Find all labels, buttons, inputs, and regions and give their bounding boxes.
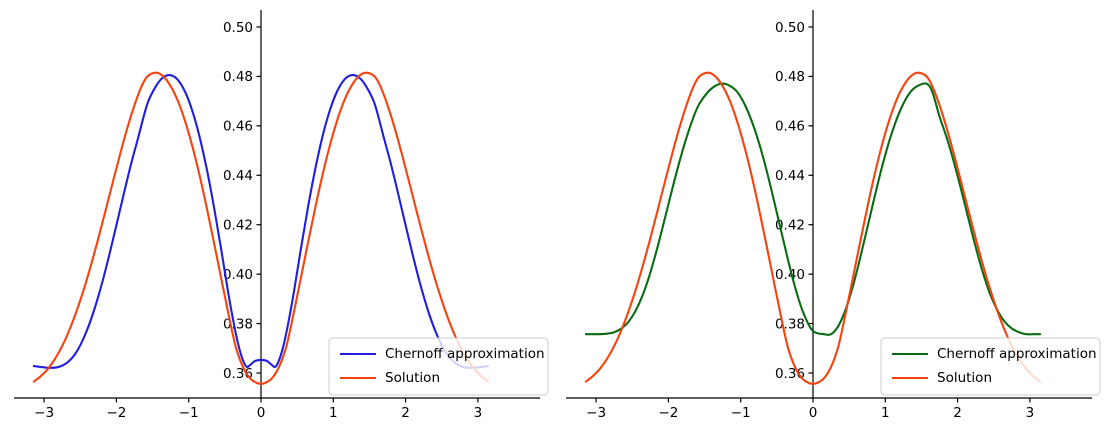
y-tick-label-left-2: 0.40 <box>223 267 253 283</box>
x-tick-label-right-3: 0 <box>809 405 818 421</box>
x-tick-label-right-2: −1 <box>731 405 751 421</box>
x-tick-label-right-0: −3 <box>586 405 606 421</box>
y-tick-label-left-6: 0.48 <box>223 69 253 85</box>
x-tick-label-right-5: 2 <box>953 405 962 421</box>
legend-label-left-0: Chernoff approximation <box>385 346 545 362</box>
x-tick-label-right-4: 1 <box>881 405 890 421</box>
legend-label-left-1: Solution <box>385 370 440 386</box>
x-tick-label-right-1: −2 <box>658 405 678 421</box>
chart-panel-right: −3−2−101230.360.380.400.420.440.460.480.… <box>552 0 1104 433</box>
x-tick-label-left-2: −1 <box>179 405 199 421</box>
y-tick-label-left-1: 0.38 <box>223 316 253 332</box>
y-tick-label-left-4: 0.44 <box>223 168 253 184</box>
y-tick-label-right-4: 0.44 <box>775 168 805 184</box>
figure-canvas: −3−2−101230.360.380.400.420.440.460.480.… <box>0 0 1104 433</box>
y-tick-label-right-0: 0.36 <box>775 366 805 382</box>
plot-area-right: −3−2−101230.360.380.400.420.440.460.480.… <box>552 0 1104 433</box>
y-tick-label-left-5: 0.46 <box>223 119 253 135</box>
y-tick-label-right-1: 0.38 <box>775 316 805 332</box>
x-tick-label-left-5: 2 <box>401 405 410 421</box>
chart-panel-left: −3−2−101230.360.380.400.420.440.460.480.… <box>0 0 552 433</box>
x-tick-label-left-3: 0 <box>257 405 266 421</box>
x-tick-label-left-6: 3 <box>474 405 483 421</box>
plot-area-left: −3−2−101230.360.380.400.420.440.460.480.… <box>0 0 552 433</box>
x-tick-label-left-1: −2 <box>106 405 126 421</box>
x-tick-label-left-4: 1 <box>329 405 338 421</box>
y-tick-label-right-5: 0.46 <box>775 119 805 135</box>
legend-label-right-1: Solution <box>937 370 992 386</box>
legend-label-right-0: Chernoff approximation <box>937 346 1097 362</box>
legend-right[interactable]: Chernoff approximationSolution <box>881 338 1100 395</box>
y-tick-label-right-7: 0.50 <box>775 20 805 36</box>
y-tick-label-right-6: 0.48 <box>775 69 805 85</box>
x-tick-label-left-0: −3 <box>34 405 54 421</box>
y-tick-label-left-7: 0.50 <box>223 20 253 36</box>
x-tick-label-right-6: 3 <box>1026 405 1035 421</box>
y-tick-label-left-0: 0.36 <box>223 366 253 382</box>
y-tick-label-left-3: 0.42 <box>223 218 253 234</box>
legend-left[interactable]: Chernoff approximationSolution <box>329 338 548 395</box>
